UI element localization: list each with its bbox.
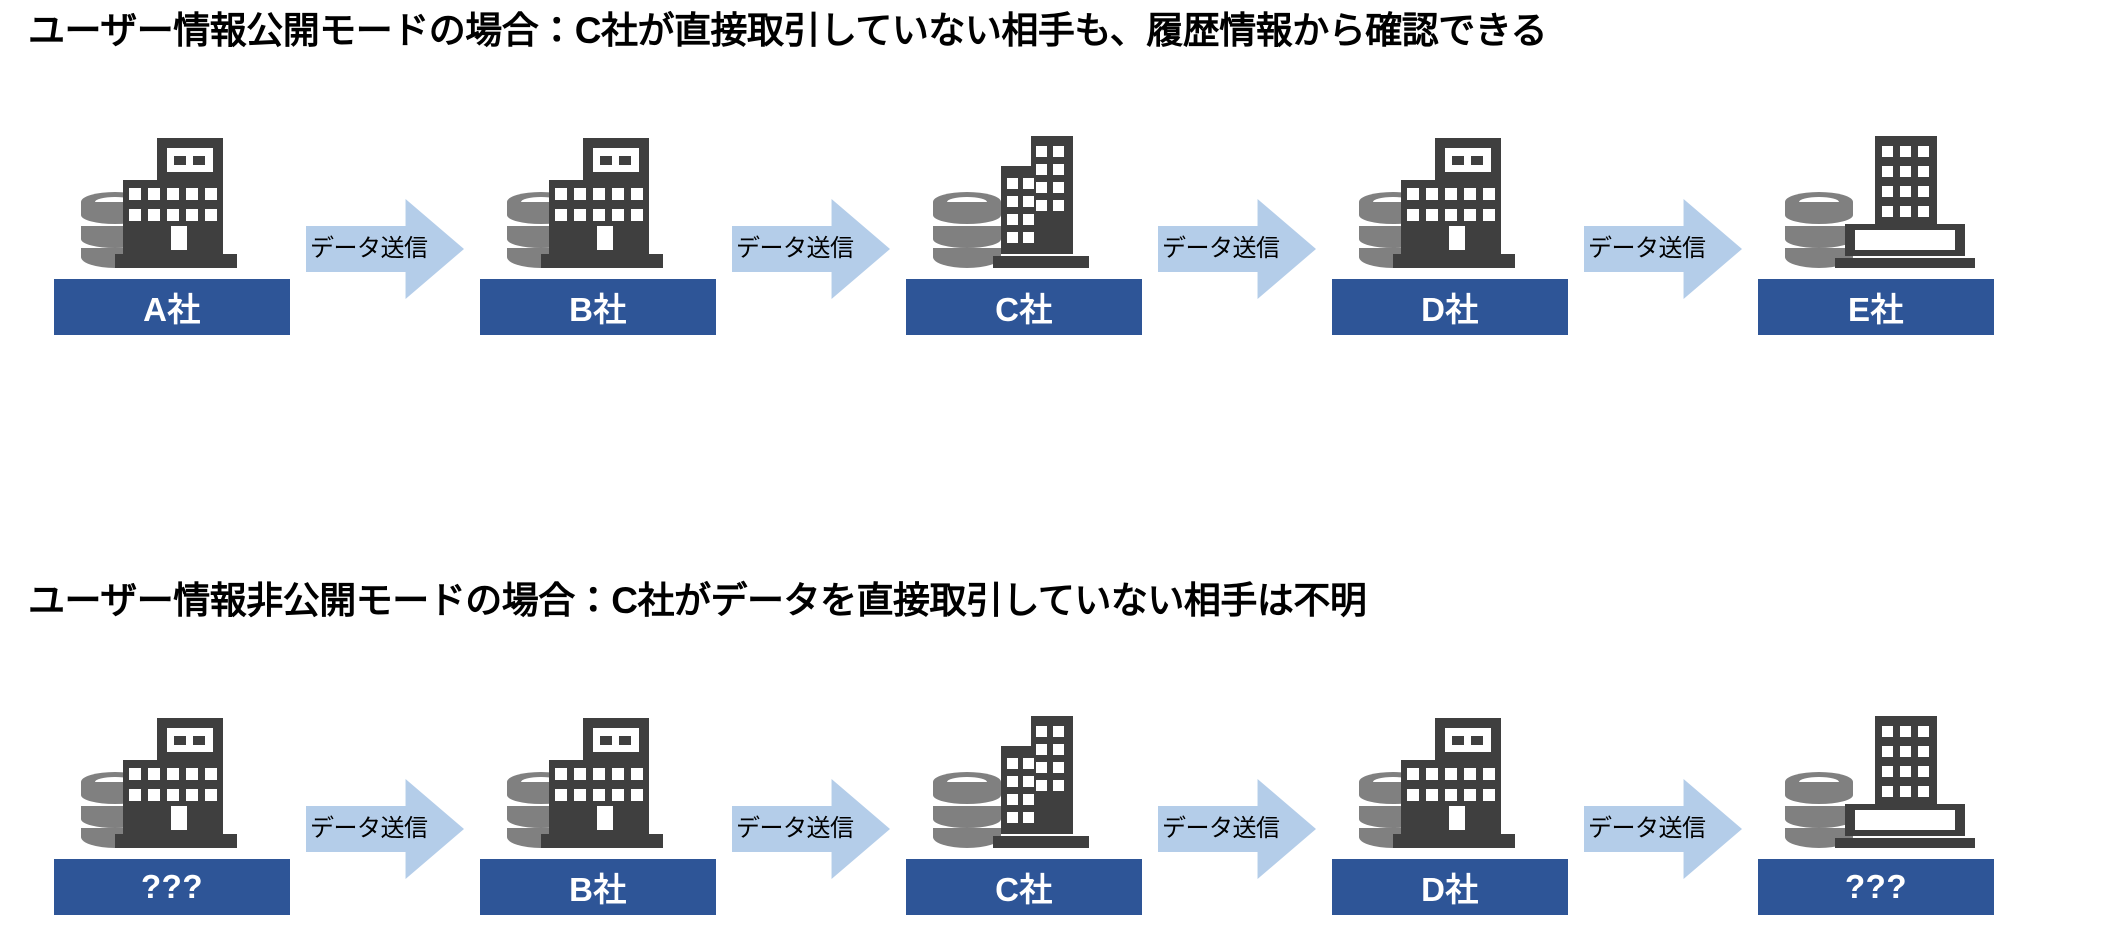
company-node-c-private[interactable]: C社 xyxy=(906,714,1142,915)
company-node-label: B社 xyxy=(480,279,716,335)
company-node-b[interactable]: B社 xyxy=(480,134,716,335)
company-node-unknown-downstream[interactable]: ??? xyxy=(1758,714,1994,915)
flow-chain-public-mode: A社 データ送信 xyxy=(0,95,2109,335)
page-title-private-mode: ユーザー情報非公開モードの場合：C社がデータを直接取引していない相手は不明 xyxy=(28,578,1366,624)
data-transfer-arrow-2: データ送信 xyxy=(732,199,890,299)
data-transfer-arrow-label: データ送信 xyxy=(732,237,854,261)
database-and-office-building-icon xyxy=(1357,134,1543,270)
database-and-office-building-icon xyxy=(79,134,265,270)
database-and-office-building-icon xyxy=(505,134,691,270)
data-transfer-arrow-4: データ送信 xyxy=(1584,199,1742,299)
data-transfer-arrow-label: データ送信 xyxy=(1584,817,1706,841)
diagram-canvas: ユーザー情報公開モードの場合：C社が直接取引していない相手も、履歴情報から確認で… xyxy=(0,0,2109,945)
company-node-label: C社 xyxy=(906,859,1142,915)
database-icon xyxy=(933,192,1001,268)
company-node-e[interactable]: E社 xyxy=(1758,134,1994,335)
data-transfer-arrow-1: データ送信 xyxy=(306,199,464,299)
company-node-b-private[interactable]: B社 xyxy=(480,714,716,915)
company-node-label: ??? xyxy=(1758,859,1994,915)
database-icon xyxy=(1785,772,1853,848)
data-transfer-arrow-label: データ送信 xyxy=(732,817,854,841)
data-transfer-arrow-6: データ送信 xyxy=(732,779,890,879)
company-node-label: A社 xyxy=(54,279,290,335)
database-and-tower-podium-building-icon xyxy=(1783,714,1969,850)
data-transfer-arrow-label: データ送信 xyxy=(306,817,428,841)
page-title-public-mode: ユーザー情報公開モードの場合：C社が直接取引していない相手も、履歴情報から確認で… xyxy=(28,8,1547,54)
company-node-label: E社 xyxy=(1758,279,1994,335)
company-node-a[interactable]: A社 xyxy=(54,134,290,335)
company-node-label: D社 xyxy=(1332,859,1568,915)
database-and-office-building-icon xyxy=(1357,714,1543,850)
database-and-office-building-icon xyxy=(505,714,691,850)
company-node-d-private[interactable]: D社 xyxy=(1332,714,1568,915)
database-and-tower-podium-building-icon xyxy=(1783,134,1969,270)
data-transfer-arrow-label: データ送信 xyxy=(1584,237,1706,261)
company-node-label: ??? xyxy=(54,859,290,915)
flow-chain-private-mode: ??? データ送信 xyxy=(0,675,2109,915)
data-transfer-arrow-label: データ送信 xyxy=(306,237,428,261)
company-node-label: B社 xyxy=(480,859,716,915)
database-icon xyxy=(933,772,1001,848)
company-node-label: C社 xyxy=(906,279,1142,335)
data-transfer-arrow-3: データ送信 xyxy=(1158,199,1316,299)
data-transfer-arrow-5: データ送信 xyxy=(306,779,464,879)
data-transfer-arrow-8: データ送信 xyxy=(1584,779,1742,879)
company-node-unknown-upstream[interactable]: ??? xyxy=(54,714,290,915)
data-transfer-arrow-label: データ送信 xyxy=(1158,817,1280,841)
database-and-twin-tower-building-icon xyxy=(931,134,1117,270)
data-transfer-arrow-label: データ送信 xyxy=(1158,237,1280,261)
database-icon xyxy=(1785,192,1853,268)
company-node-c[interactable]: C社 xyxy=(906,134,1142,335)
company-node-d[interactable]: D社 xyxy=(1332,134,1568,335)
company-node-label: D社 xyxy=(1332,279,1568,335)
data-transfer-arrow-7: データ送信 xyxy=(1158,779,1316,879)
database-and-office-building-icon xyxy=(79,714,265,850)
database-and-twin-tower-building-icon xyxy=(931,714,1117,850)
